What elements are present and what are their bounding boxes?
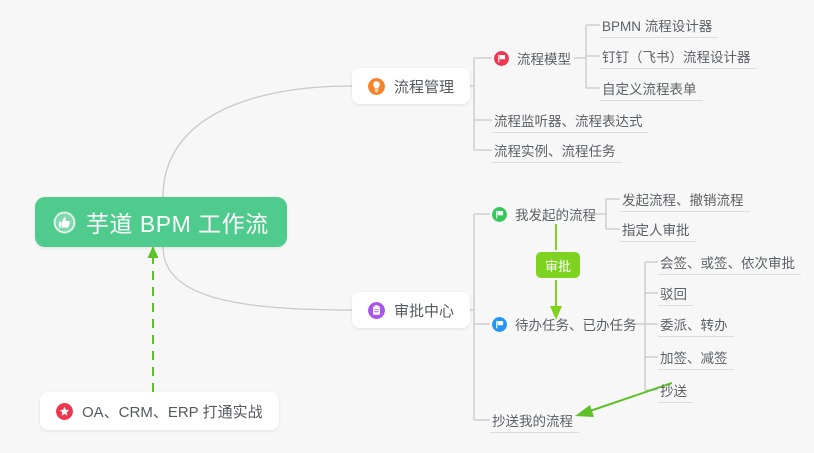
wire-root-to-process-management (163, 86, 352, 197)
thumbs-up-icon (53, 211, 76, 234)
tag-approval[interactable]: 审批 (536, 252, 580, 278)
leaf-assigned-approver[interactable]: 指定人审批 (620, 216, 696, 242)
leaf-add-remove-sign[interactable]: 加签、减签 (658, 344, 734, 370)
branch-process-management-label: 流程管理 (394, 76, 454, 97)
leaf-process-listener[interactable]: 流程监听器、流程表达式 (492, 107, 649, 133)
leaf-start-cancel-process[interactable]: 发起流程、撤销流程 (620, 186, 750, 212)
flag-icon (494, 51, 509, 66)
leaf-reject[interactable]: 驳回 (658, 280, 693, 306)
group-process-model[interactable]: 流程模型 (492, 45, 577, 71)
flag-icon (492, 207, 507, 222)
footnote-node[interactable]: OA、CRM、ERP 打通实战 (40, 392, 279, 430)
group-todo-done-tasks-label: 待办任务、已办任务 (515, 314, 637, 334)
leaf-cc-my-process[interactable]: 抄送我的流程 (490, 407, 579, 433)
footnote-node-label: OA、CRM、ERP 打通实战 (82, 401, 263, 422)
branch-approval-center-label: 审批中心 (394, 300, 454, 321)
group-process-model-label: 流程模型 (517, 48, 571, 68)
leaf-cc[interactable]: 抄送 (658, 377, 693, 403)
group-my-initiated-label: 我发起的流程 (515, 204, 596, 224)
root-node[interactable]: 芋道 BPM 工作流 (35, 197, 287, 247)
mindmap-canvas: 芋道 BPM 工作流 流程管理 流程模型 BPMN 流程设计器 钉钉（飞书）流程… (0, 0, 814, 453)
leaf-process-instance[interactable]: 流程实例、流程任务 (492, 137, 622, 163)
group-my-initiated[interactable]: 我发起的流程 (490, 201, 602, 227)
branch-approval-center[interactable]: 审批中心 (352, 292, 470, 328)
wire-root-to-approval-center (163, 247, 352, 310)
star-icon (56, 403, 73, 420)
arrow-footnote-to-root (148, 246, 159, 392)
branch-process-management[interactable]: 流程管理 (352, 68, 470, 104)
leaf-custom-form[interactable]: 自定义流程表单 (600, 75, 703, 101)
leaf-delegate-transfer[interactable]: 委派、转办 (658, 311, 734, 337)
leaf-dingtalk-designer[interactable]: 钉钉（飞书）流程设计器 (600, 43, 757, 69)
leaf-bpmn-designer[interactable]: BPMN 流程设计器 (600, 12, 718, 38)
lightbulb-icon (368, 78, 385, 95)
tag-approval-label: 审批 (545, 256, 571, 275)
flag-icon (492, 317, 507, 332)
leaf-countersign[interactable]: 会签、或签、依次审批 (658, 249, 801, 275)
clipboard-icon (368, 302, 385, 319)
root-node-label: 芋道 BPM 工作流 (86, 205, 269, 239)
group-todo-done-tasks[interactable]: 待办任务、已办任务 (490, 311, 643, 337)
